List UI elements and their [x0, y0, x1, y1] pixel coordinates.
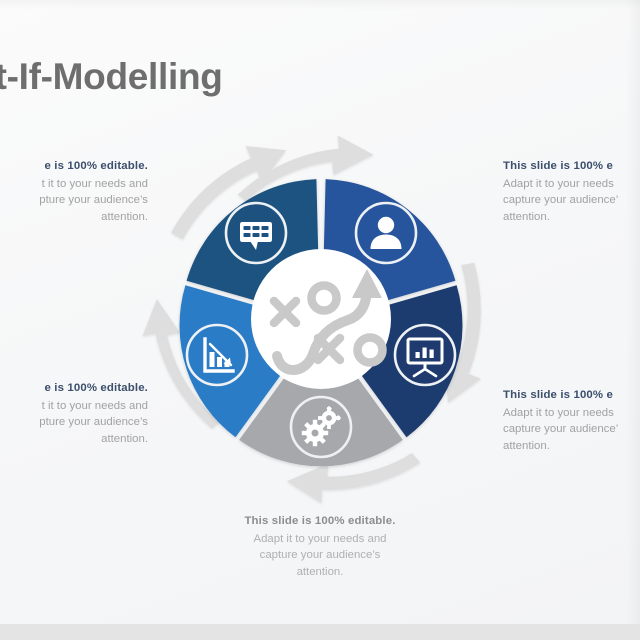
segment-icon-badge-top-left[interactable] — [226, 203, 286, 263]
text-block-bottom-left: e is 100% editable. t it to your needs a… — [0, 380, 148, 447]
cycle-donut-diagram — [130, 128, 512, 510]
segment-icon-badge-top-right[interactable] — [356, 203, 416, 263]
text-block-line-1: Adapt it to your needs — [503, 405, 640, 422]
text-block-line-3: attention. — [190, 564, 450, 581]
text-block-top-right: This slide is 100% e Adapt it to your ne… — [503, 158, 640, 225]
viewer-bottom-bar — [0, 624, 640, 640]
text-block-line-2: pture your audience’s — [0, 414, 148, 431]
text-block-line-1: t it to your needs and — [0, 398, 148, 415]
text-block-line-3: attention. — [0, 431, 148, 448]
text-block-line-3: attention. — [0, 209, 148, 226]
text-block-bottom-center: This slide is 100% editable. Adapt it to… — [190, 513, 450, 580]
text-block-heading: This slide is 100% e — [503, 387, 640, 404]
slide-canvas: hat-If-Modelling e is 100% editable. t i… — [0, 0, 640, 640]
text-block-heading: This slide is 100% e — [503, 158, 640, 175]
page-title: hat-If-Modelling — [0, 57, 372, 98]
text-block-heading: This slide is 100% editable. — [190, 513, 450, 530]
text-block-line-3: attention. — [503, 438, 640, 455]
text-block-heading: e is 100% editable. — [0, 380, 148, 397]
text-block-top-left: e is 100% editable. t it to your needs a… — [0, 158, 148, 225]
text-block-line-2: pture your audience’s — [0, 192, 148, 209]
segment-icon-badge-right[interactable] — [395, 325, 455, 385]
text-block-line-3: attention. — [503, 209, 640, 226]
text-block-line-2: capture your audience’ — [503, 192, 640, 209]
page-right-shadow — [626, 0, 640, 624]
text-block-line-2: capture your audience’ — [503, 421, 640, 438]
segment-icon-badge-bottom[interactable] — [291, 397, 351, 457]
text-block-bottom-right: This slide is 100% e Adapt it to your ne… — [503, 387, 640, 454]
text-block-line-1: Adapt it to your needs and — [190, 531, 450, 548]
text-block-heading: e is 100% editable. — [0, 158, 148, 175]
text-block-line-2: capture your audience’s — [190, 547, 450, 564]
page-top-shadow — [0, 0, 640, 10]
segment-icon-badge-left[interactable] — [187, 325, 247, 385]
text-block-line-1: Adapt it to your needs — [503, 176, 640, 193]
text-block-line-1: t it to your needs and — [0, 176, 148, 193]
